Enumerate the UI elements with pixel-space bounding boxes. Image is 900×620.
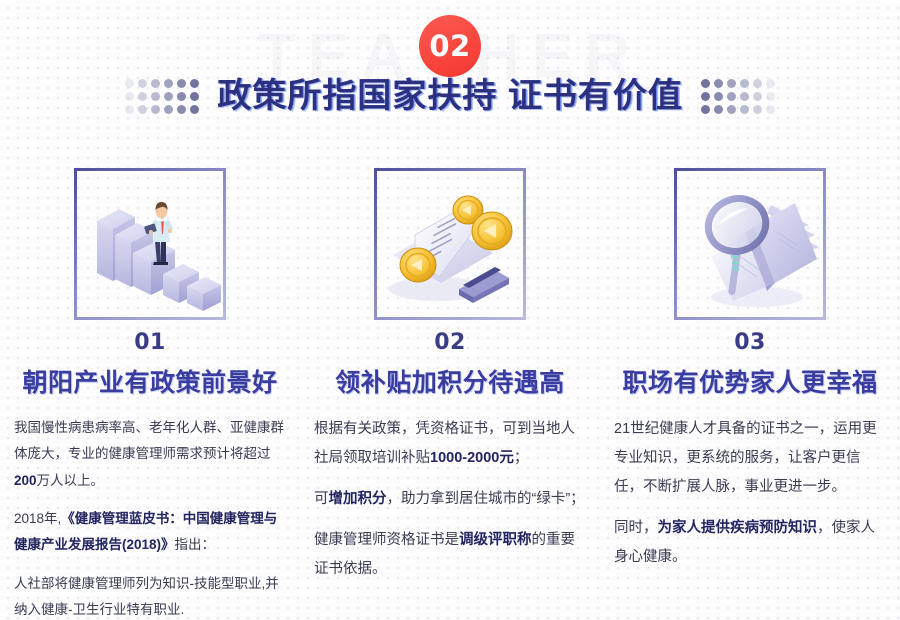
card-number: 02 bbox=[434, 330, 466, 355]
card-paragraph: 同时，为家人提供疾病预防知识，使家人身心健康。 bbox=[614, 514, 886, 572]
card-heading: 领补贴加积分待遇高 bbox=[335, 363, 565, 399]
body-text: 我国慢性病患病率高、老年化人群、亚健康群体庞大，专业的健康管理师需求预计将超过 bbox=[14, 420, 284, 461]
card-paragraph: 根据有关政策，凭资格证书，可到当地人社局领取培训补贴1000-2000元； bbox=[314, 415, 586, 473]
page-title: 政策所指国家扶持 证书有价值 bbox=[217, 78, 682, 115]
card-body: 21世纪健康人才具备的证书之一，运用更专业知识，更系统的服务，让客户更信任，不断… bbox=[614, 415, 886, 572]
card-body: 我国慢性病患病率高、老年化人群、亚健康群体庞大，专业的健康管理师需求预计将超过2… bbox=[14, 415, 286, 620]
card-number: 01 bbox=[134, 330, 166, 355]
illustration-frame bbox=[374, 168, 526, 320]
emphasis-text: 1000-2000元 bbox=[430, 450, 514, 466]
emphasis-text: 为家人提供疾病预防知识 bbox=[658, 520, 818, 536]
body-text: ； bbox=[514, 450, 529, 466]
body-text: 21世纪健康人才具备的证书之一，运用更专业知识，更系统的服务，让客户更信任，不断… bbox=[614, 421, 877, 495]
feature-card: 03职场有优势家人更幸福21世纪健康人才具备的证书之一，运用更专业知识，更系统的… bbox=[600, 168, 900, 620]
illustration-frame bbox=[674, 168, 826, 320]
feature-card-list: 01朝阳产业有政策前景好我国慢性病患病率高、老年化人群、亚健康群体庞大，专业的健… bbox=[0, 168, 900, 620]
emphasis-text: 200 bbox=[14, 473, 37, 488]
feature-card: 02领补贴加积分待遇高根据有关政策，凭资格证书，可到当地人社局领取培训补贴100… bbox=[300, 168, 600, 620]
body-text: 万人以上。 bbox=[37, 473, 105, 488]
card-paragraph: 人社部将健康管理师列为知识-技能型职业,并纳入健康-卫生行业特有职业. bbox=[14, 571, 286, 620]
dot-grid-left-icon bbox=[125, 79, 199, 114]
card-paragraph: 2018年,《健康管理蓝皮书：中国健康管理与健康产业发展报告(2018)》指出： bbox=[14, 506, 286, 559]
card-paragraph: 21世纪健康人才具备的证书之一，运用更专业知识，更系统的服务，让客户更信任，不断… bbox=[614, 415, 886, 502]
body-text: 指出： bbox=[175, 537, 216, 552]
bar-chart-businessman-illustration bbox=[75, 169, 231, 325]
card-number: 03 bbox=[734, 330, 766, 355]
book-magnifier-illustration bbox=[675, 169, 831, 325]
card-heading: 朝阳产业有政策前景好 bbox=[22, 363, 277, 399]
card-paragraph: 我国慢性病患病率高、老年化人群、亚健康群体庞大，专业的健康管理师需求预计将超过2… bbox=[14, 415, 286, 494]
body-text: ，助力拿到居住城市的“绿卡”； bbox=[387, 491, 585, 507]
feature-card: 01朝阳产业有政策前景好我国慢性病患病率高、老年化人群、亚健康群体庞大，专业的健… bbox=[0, 168, 300, 620]
card-paragraph: 健康管理师资格证书是调级评职称的重要证书依据。 bbox=[314, 526, 586, 584]
body-text: 人社部将健康管理师列为知识-技能型职业,并纳入健康-卫生行业特有职业. bbox=[14, 576, 279, 617]
body-text: 2018年, bbox=[14, 511, 61, 526]
section-header: TEACHER 02 政策所指国家扶持 证书有价值 bbox=[0, 0, 900, 160]
card-paragraph: 可增加积分，助力拿到居住城市的“绿卡”； bbox=[314, 485, 586, 514]
body-text: 可 bbox=[314, 491, 329, 507]
body-text: 健康管理师资格证书是 bbox=[314, 532, 459, 548]
card-body: 根据有关政策，凭资格证书，可到当地人社局领取培训补贴1000-2000元；可增加… bbox=[314, 415, 586, 584]
section-number-badge: 02 bbox=[419, 15, 481, 77]
page-root: TEACHER 02 政策所指国家扶持 证书有价值 bbox=[0, 0, 900, 620]
title-row: 政策所指国家扶持 证书有价值 bbox=[0, 78, 900, 115]
receipt-coins-illustration bbox=[375, 169, 531, 325]
body-text: 同时， bbox=[614, 520, 658, 536]
dot-grid-right-icon bbox=[701, 79, 775, 114]
card-heading: 职场有优势家人更幸福 bbox=[622, 363, 877, 399]
illustration-frame bbox=[74, 168, 226, 320]
emphasis-text: 增加积分 bbox=[329, 491, 387, 507]
emphasis-text: 调级评职称 bbox=[459, 532, 532, 548]
